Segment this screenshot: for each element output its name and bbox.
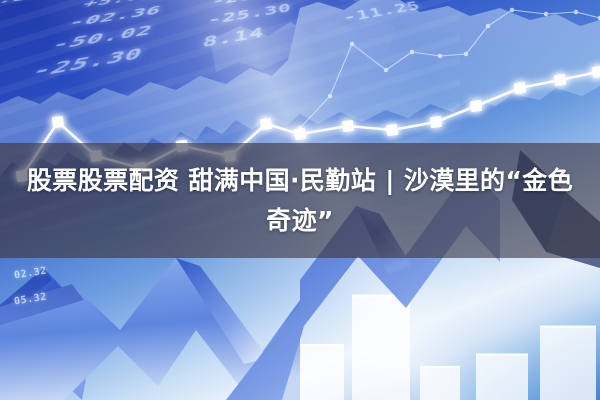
data-point-node (592, 66, 600, 78)
data-point-node (486, 24, 491, 29)
data-point-node (554, 74, 566, 86)
data-point-node (464, 52, 469, 57)
data-point-node (328, 94, 333, 99)
data-point-node (410, 50, 415, 55)
title-line-2: 奇迹” (266, 206, 334, 235)
data-point-node (260, 118, 272, 130)
data-point-node (514, 82, 526, 94)
data-point-node (470, 100, 482, 112)
title-overlay-band: 股票股票配资 甜满中国·民勤站 | 沙漠里的“金色 奇迹” (0, 143, 600, 258)
data-point-node (294, 128, 306, 140)
finance-article-banner: -03.35-02.3521.0245.028.35-00.02-11.25-5… (0, 0, 600, 400)
data-point-node (544, 12, 549, 17)
page-title: 股票股票配资 甜满中国·民勤站 | 沙漠里的“金色 奇迹” (20, 161, 580, 241)
data-point-node (574, 10, 579, 15)
data-point-node (438, 54, 443, 59)
trend-line-path (300, 10, 600, 128)
data-point-node (510, 8, 515, 13)
title-line-1: 股票股票配资 甜满中国·民勤站 | 沙漠里的“金色 (27, 166, 573, 195)
data-point-node (386, 124, 398, 136)
data-point-node (350, 42, 355, 47)
data-point-node (384, 68, 389, 73)
data-point-node (430, 116, 442, 128)
secondary-trend-line (298, 8, 600, 131)
data-point-node (52, 116, 64, 128)
data-point-node (342, 120, 354, 132)
